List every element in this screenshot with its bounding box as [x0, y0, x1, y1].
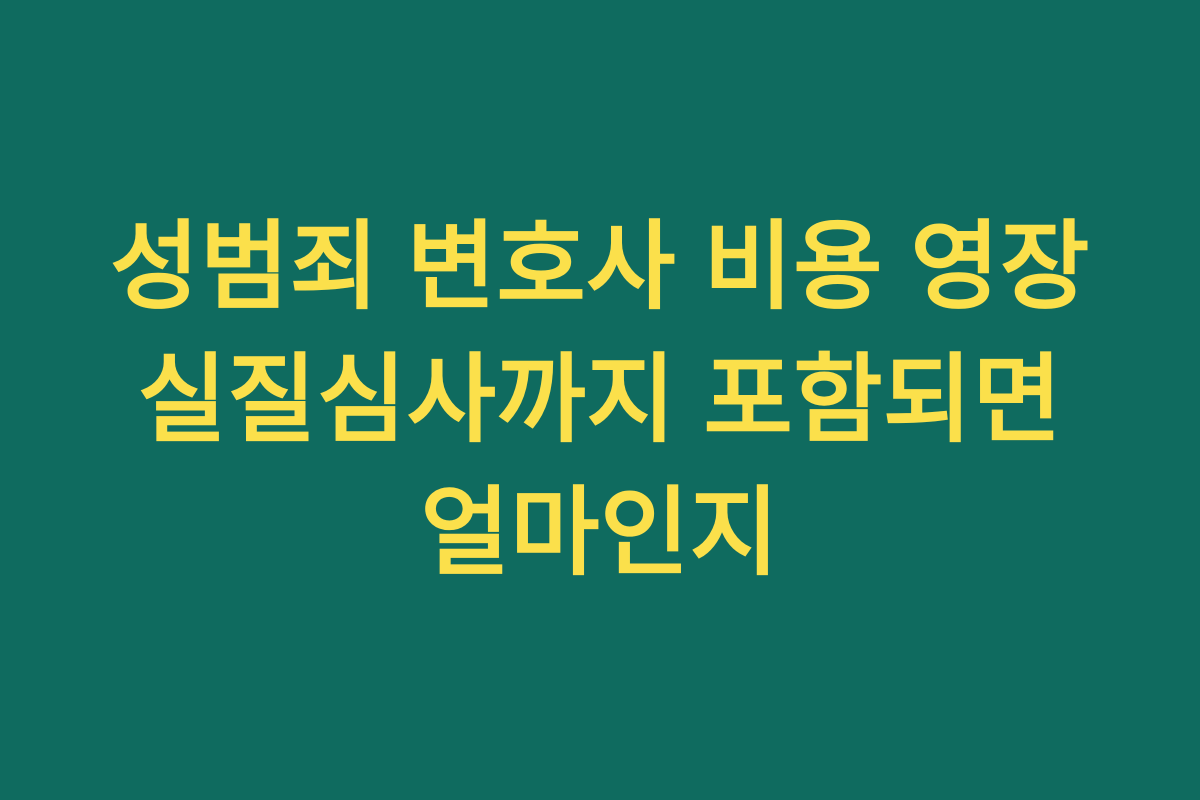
headline-line-1: 성범죄 변호사 비용 영장 [110, 200, 1090, 333]
headline-block: 성범죄 변호사 비용 영장 실질심사까지 포함되면 얼마인지 [65, 200, 1135, 599]
thumbnail-card: 성범죄 변호사 비용 영장 실질심사까지 포함되면 얼마인지 [0, 0, 1200, 800]
headline-line-2: 실질심사까지 포함되면 [138, 333, 1063, 466]
headline-line-3: 얼마인지 [421, 466, 780, 599]
